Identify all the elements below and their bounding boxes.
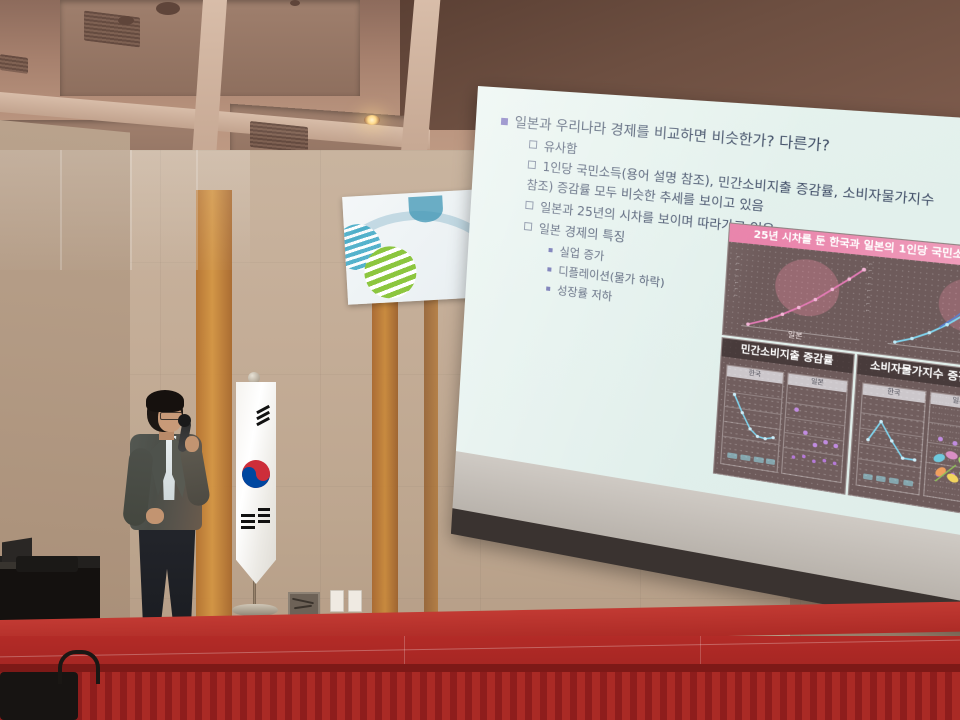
equipment-bag — [16, 556, 78, 572]
ceiling-spotlight — [290, 0, 300, 6]
ceiling-spotlight — [156, 2, 180, 15]
presenter-hand-right — [185, 436, 199, 452]
ceiling-spotlight — [118, 16, 134, 25]
presenter-hair — [146, 390, 184, 412]
taeguk-circle — [242, 460, 270, 488]
south-korea-flag-taegeukgi — [236, 382, 276, 584]
ceiling-spotlight-lit — [364, 115, 380, 125]
bag-handle — [58, 650, 100, 684]
microphone-head — [178, 414, 191, 427]
conference-photo-scene: (사) 일본과 우리나라 경제를 비교하면 비슷한가? 다른가? 유사함 1인당… — [0, 0, 960, 720]
presenter-hand-left — [146, 508, 164, 524]
stage-skirt — [0, 672, 960, 720]
wall-outlet[interactable] — [348, 590, 362, 612]
wall-outlet[interactable] — [330, 590, 344, 612]
wall-column-orange — [424, 246, 438, 636]
glass-partition — [0, 150, 250, 270]
